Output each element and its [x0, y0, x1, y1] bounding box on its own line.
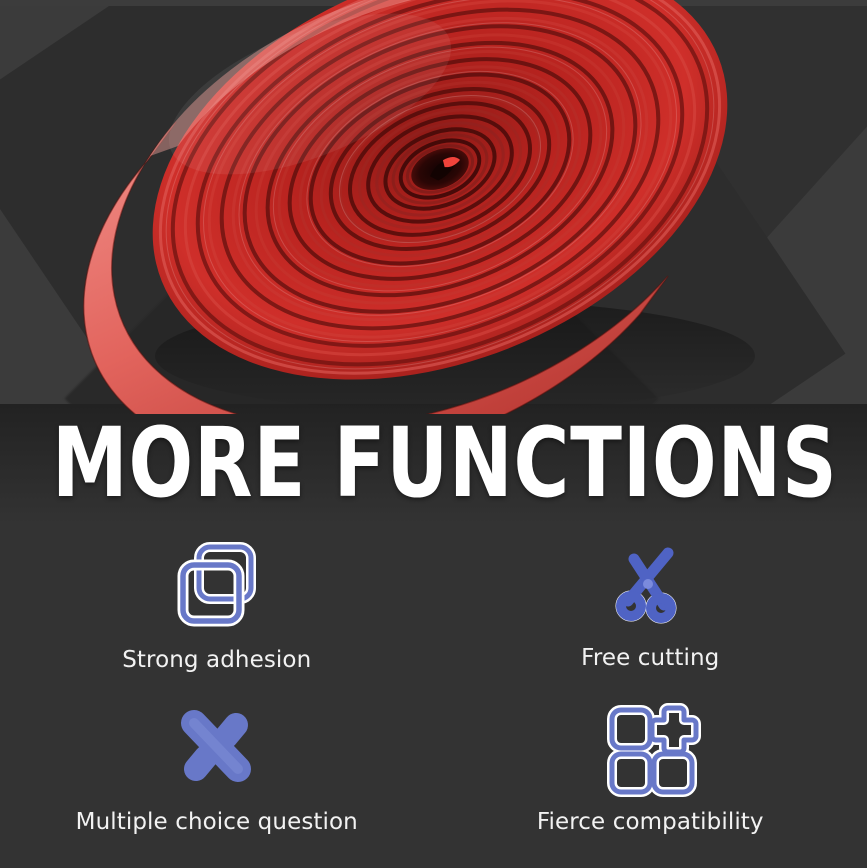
feature-label: Strong adhesion: [122, 646, 311, 674]
feature-item-multiple-choice-question: Multiple choice question: [0, 700, 434, 836]
grid-plus-icon: [598, 700, 702, 796]
scissors-icon: [598, 536, 702, 632]
feature-label: Free cutting: [581, 644, 719, 672]
stacked-squares-icon: [165, 536, 269, 632]
feature-item-strong-adhesion: Strong adhesion: [0, 536, 434, 674]
feature-label: Fierce compatibility: [537, 808, 764, 836]
product-feature-banner: MORE FUNCTIONS Strong adhesion: [0, 0, 867, 868]
feature-item-fierce-compatibility: Fierce compatibility: [434, 700, 867, 836]
product-image: [0, 0, 867, 414]
feature-label: Multiple choice question: [76, 808, 358, 836]
feature-grid: Strong adhesion: [0, 536, 867, 858]
cross-bars-icon: [165, 700, 269, 796]
page-title: MORE FUNCTIONS: [52, 415, 815, 511]
feature-item-free-cutting: Free cutting: [434, 536, 867, 672]
